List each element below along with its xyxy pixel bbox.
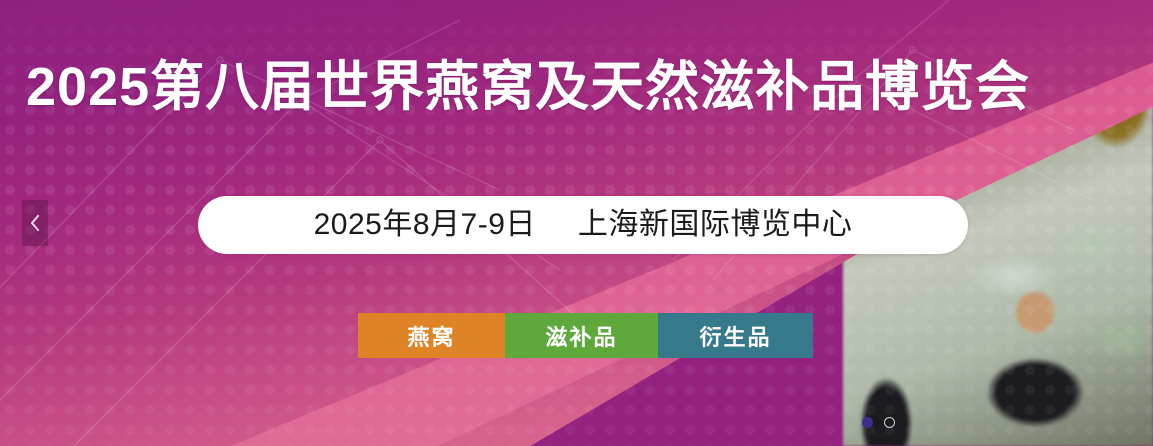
category-tag-zibu[interactable]: 滋补品 (505, 313, 658, 358)
carousel-dot-2[interactable] (884, 417, 895, 428)
category-tag-label: 燕窝 (407, 320, 455, 352)
category-tag-label: 滋补品 (545, 320, 617, 352)
carousel-dot-1[interactable] (862, 417, 873, 428)
carousel-pagination (862, 417, 895, 428)
category-tag-group: 燕窝 滋补品 衍生品 (358, 313, 813, 358)
category-tag-yanwo[interactable]: 燕窝 (358, 313, 505, 358)
event-promo-banner: 2025第八届世界燕窝及天然滋补品博览会 2025年8月7-9日 上海新国际博览… (0, 0, 1153, 446)
event-date: 2025年8月7-9日 (314, 210, 536, 240)
page-title: 2025第八届世界燕窝及天然滋补品博览会 (26, 52, 1146, 122)
category-tag-yansheng[interactable]: 衍生品 (658, 313, 813, 358)
carousel-prev-button[interactable] (22, 200, 48, 246)
category-tag-label: 衍生品 (699, 320, 771, 352)
event-venue: 上海新国际博览中心 (578, 210, 853, 240)
chevron-left-icon (29, 213, 41, 233)
event-info-pill: 2025年8月7-9日 上海新国际博览中心 (198, 196, 968, 254)
